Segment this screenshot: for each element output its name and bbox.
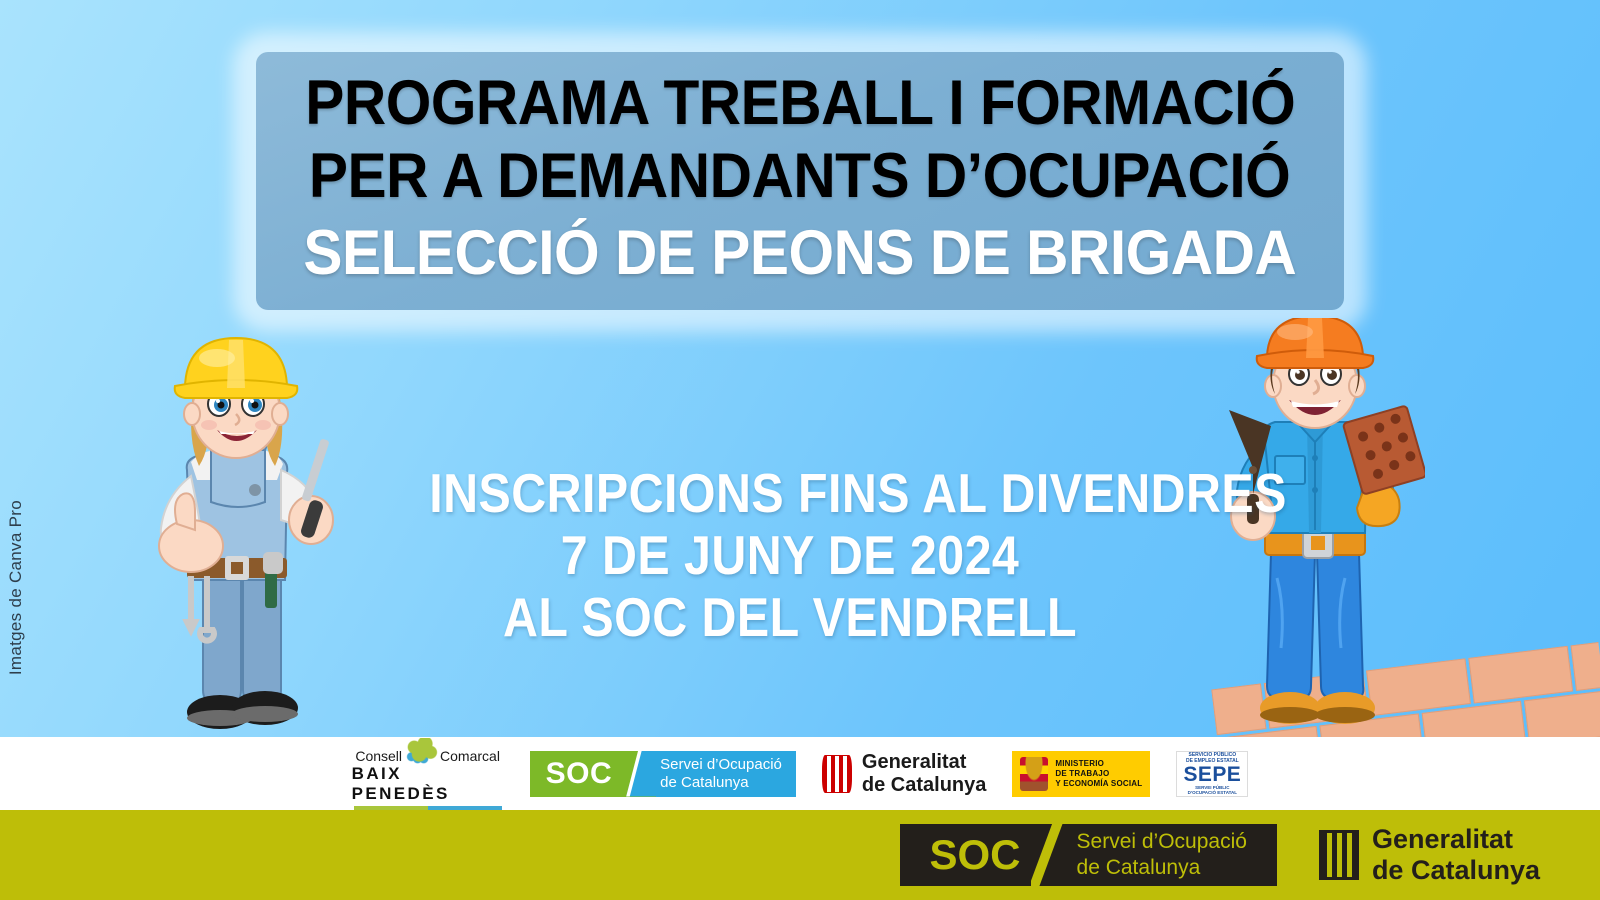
sepe-acronym: SEPE <box>1183 764 1241 785</box>
announcement-line-1: INSCRIPCIONS FINS AL DIVENDRES <box>429 462 1151 524</box>
image-credit: Imatges de Canva Pro <box>6 500 26 675</box>
logo-band: Consell Comarcal BAIX PENEDÈS SOC Servei… <box>0 737 1600 810</box>
ministerio-text: MINISTERIO DE TRABAJO Y ECONOMÍA SOCIAL <box>1055 759 1142 789</box>
consell-comarcal-top-row: Consell Comarcal <box>355 738 500 764</box>
soc-dark-slash-icon <box>1031 824 1075 886</box>
consell-comarcal-rule <box>354 806 502 810</box>
soc-dark-subtitle: Servei d’Ocupació de Catalunya <box>1075 824 1277 886</box>
ministerio-logo: MINISTERIO DE TRABAJO Y ECONOMÍA SOCIAL <box>1012 751 1150 797</box>
generalitat-dark-line-1: Generalitat <box>1372 824 1540 855</box>
female-worker-illustration <box>125 330 350 740</box>
ministerio-line-1: MINISTERIO <box>1055 759 1142 769</box>
ministerio-line-2: DE TRABAJO <box>1055 769 1142 779</box>
catalonia-shield-icon-dark <box>1319 830 1359 880</box>
ministerio-line-3: Y ECONOMÍA SOCIAL <box>1055 779 1142 789</box>
sepe-logo: SERVICIO PÚBLICO DE EMPLEO ESTATAL SEPE … <box>1176 751 1248 797</box>
soc-logo-color: SOC Servei d’Ocupació de Catalunya <box>530 751 796 797</box>
catalonia-shield-icon <box>822 755 852 793</box>
generalitat-dark-text: Generalitat de Catalunya <box>1372 824 1540 886</box>
title-line-3: SELECCIÓ DE PEONS DE BRIGADA <box>304 222 1297 285</box>
consell-label: Consell <box>355 748 402 764</box>
soc-logo-dark: SOC Servei d’Ocupació de Catalunya <box>900 824 1277 886</box>
spain-coat-of-arms-icon <box>1020 757 1048 791</box>
soc-dark-acronym: SOC <box>900 824 1031 886</box>
soc-dark-subtitle-line-2: de Catalunya <box>1077 855 1247 881</box>
generalitat-text: Generalitat de Catalunya <box>862 751 986 796</box>
promotional-poster: Imatges de Canva Pro PROGRAMA TREBALL I … <box>0 0 1600 900</box>
soc-slash-icon <box>626 751 656 797</box>
sepe-bottom-line-2: D’OCUPACIÓ ESTATAL <box>1183 790 1241 795</box>
announcement-text: INSCRIPCIONS FINS AL DIVENDRES 7 DE JUNY… <box>380 462 1200 648</box>
soc-dark-subtitle-line-1: Servei d’Ocupació <box>1077 829 1247 855</box>
title-banner: PROGRAMA TREBALL I FORMACIÓ PER A DEMAND… <box>256 52 1344 310</box>
generalitat-line-1: Generalitat <box>862 751 986 773</box>
generalitat-logo-dark: Generalitat de Catalunya <box>1319 824 1540 886</box>
soc-subtitle: Servei d’Ocupació de Catalunya <box>656 751 796 797</box>
generalitat-logo-color: Generalitat de Catalunya <box>822 751 986 796</box>
announcement-line-3: AL SOC DEL VENDRELL <box>429 586 1151 648</box>
consell-comarcal-name: BAIX PENEDÈS <box>352 764 504 804</box>
footer-bar: SOC Servei d’Ocupació de Catalunya Gener… <box>0 810 1600 900</box>
soc-subtitle-line-2: de Catalunya <box>660 774 782 792</box>
title-line-1: PROGRAMA TREBALL I FORMACIÓ <box>305 72 1295 135</box>
announcement-line-2: 7 DE JUNY DE 2024 <box>429 524 1151 586</box>
baix-penedes-map-icon <box>404 738 438 764</box>
title-line-2: PER A DEMANDANTS D’OCUPACIÓ <box>309 145 1290 208</box>
male-bricklayer-illustration <box>1205 318 1425 738</box>
comarcal-label: Comarcal <box>440 748 500 764</box>
soc-acronym: SOC <box>530 751 627 797</box>
generalitat-line-2: de Catalunya <box>862 774 986 796</box>
consell-comarcal-logo: Consell Comarcal BAIX PENEDÈS <box>352 738 504 810</box>
soc-subtitle-line-1: Servei d’Ocupació <box>660 756 782 774</box>
generalitat-dark-line-2: de Catalunya <box>1372 855 1540 886</box>
